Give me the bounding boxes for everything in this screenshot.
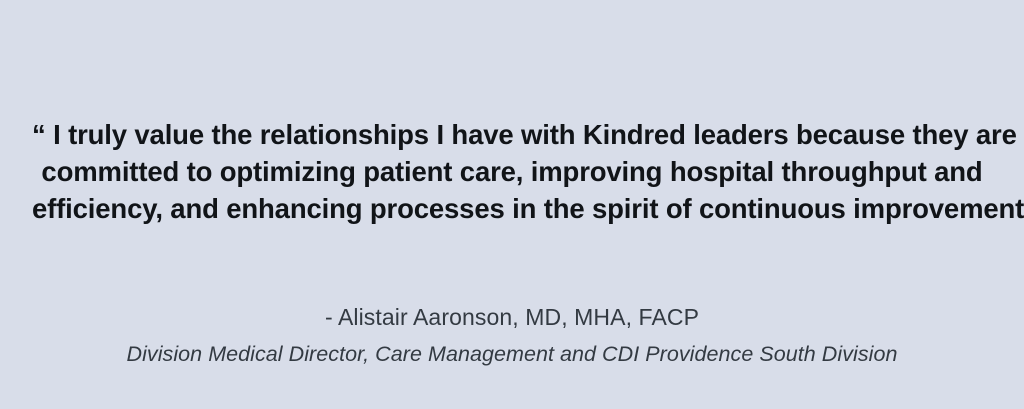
testimonial-card: “ I truly value the relationships I have…: [0, 0, 1024, 409]
quote-text: “ I truly value the relationships I have…: [32, 116, 992, 227]
quote-line-3: efficiency, and enhancing processes in t…: [32, 190, 992, 227]
quote-line-2: committed to optimizing patient care, im…: [32, 153, 992, 190]
attribution-name: - Alistair Aaronson, MD, MHA, FACP: [32, 302, 992, 333]
attribution: - Alistair Aaronson, MD, MHA, FACP Divis…: [32, 302, 992, 369]
quote-line-1: “ I truly value the relationships I have…: [32, 116, 992, 153]
attribution-title: Division Medical Director, Care Manageme…: [32, 339, 992, 369]
